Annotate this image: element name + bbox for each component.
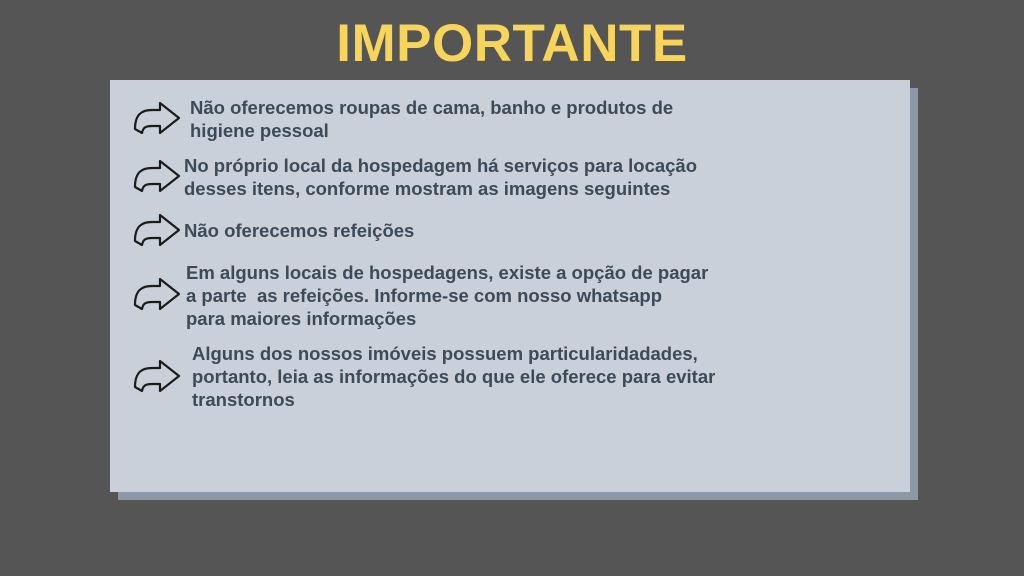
list-item-label: Alguns dos nossos imóveis possuem partic… [184, 342, 715, 411]
right-arrow-icon [132, 357, 182, 397]
right-arrow-icon [132, 99, 182, 139]
page-title: IMPORTANTE [0, 16, 1024, 72]
list-item-label: Não oferecemos refeições [184, 219, 414, 242]
list-item: Em alguns locais de hospedagens, existe … [132, 261, 900, 330]
right-arrow-icon [132, 211, 182, 251]
list-item: Não oferecemos roupas de cama, banho e p… [132, 96, 900, 142]
list-item: Não oferecemos refeições [132, 211, 900, 251]
slide-canvas: IMPORTANTE Não oferecemos roupas de cama… [0, 0, 1024, 576]
list-item-label: Não oferecemos roupas de cama, banho e p… [184, 96, 673, 142]
list-item: Alguns dos nossos imóveis possuem partic… [132, 342, 900, 411]
list-item: No próprio local da hospedagem há serviç… [132, 154, 900, 200]
right-arrow-icon [132, 157, 182, 197]
list-item-label: Em alguns locais de hospedagens, existe … [184, 261, 708, 330]
bullet-list: Não oferecemos roupas de cama, banho e p… [110, 80, 910, 492]
right-arrow-icon [132, 275, 182, 315]
list-item-label: No próprio local da hospedagem há serviç… [184, 154, 697, 200]
